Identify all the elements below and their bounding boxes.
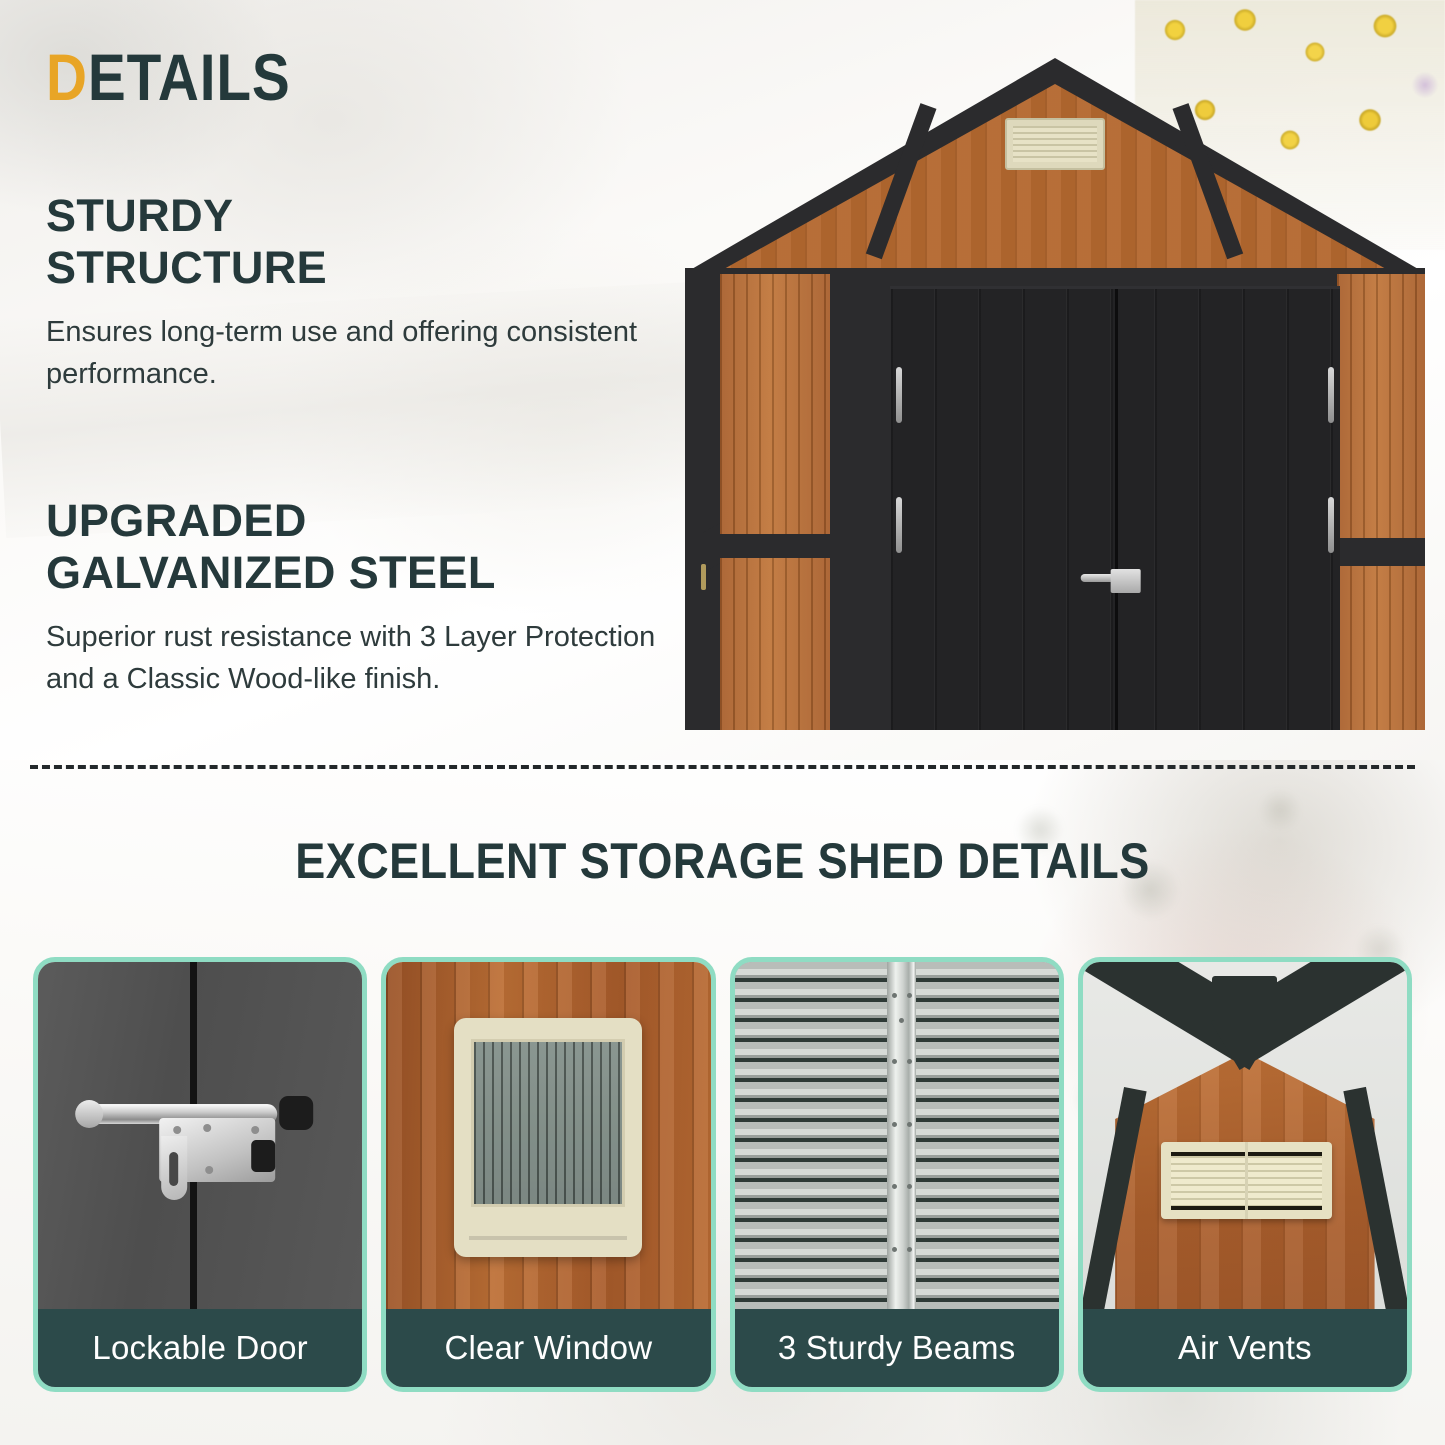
feature-heading: UPGRADED GALVANIZED STEEL <box>46 495 686 599</box>
section-heading: EXCELLENT STORAGE SHED DETAILS <box>72 832 1373 890</box>
beams-photo <box>735 962 1059 1309</box>
details-title-lead-letter: D <box>46 40 88 114</box>
beam-rivet <box>907 1059 912 1064</box>
shed-drip-edge <box>701 564 706 590</box>
beam-rivet <box>907 1122 912 1127</box>
door-latch-icon <box>1081 567 1147 593</box>
beam-rivet <box>907 1184 912 1189</box>
infographic-page: DETAILS STURDY STRUCTURE Ensures long-te… <box>0 0 1445 1445</box>
shed-wood-panel-left-upper <box>720 274 830 534</box>
latch-screw <box>251 1126 259 1134</box>
detail-card-clear-window[interactable]: Clear Window <box>381 957 715 1392</box>
latch-plate <box>1111 569 1141 593</box>
window-pane <box>471 1039 625 1207</box>
shed-double-doors <box>890 286 1340 730</box>
feature-heading: STURDY STRUCTURE <box>46 190 686 294</box>
door-hinge-left-bottom <box>896 497 902 553</box>
latch-screw <box>173 1126 181 1134</box>
feature-heading-line-1: STURDY <box>46 190 686 242</box>
feature-heading-line-1: UPGRADED <box>46 495 686 547</box>
beam-rivet <box>892 993 897 998</box>
feature-body-text: Ensures long-term use and offering consi… <box>46 312 686 394</box>
card-caption: 3 Sturdy Beams <box>735 1309 1059 1387</box>
door-hinge-right-top <box>1328 367 1334 423</box>
beam-rivet <box>892 1184 897 1189</box>
shed-body <box>685 268 1425 730</box>
feature-heading-line-2: GALVANIZED STEEL <box>46 547 686 599</box>
shed-wood-panel-right-upper <box>1337 274 1425 538</box>
detail-card-sturdy-beams[interactable]: 3 Sturdy Beams <box>730 957 1064 1392</box>
latch-screw <box>203 1124 211 1132</box>
shed-gable <box>685 58 1425 288</box>
beam-rivet <box>892 1247 897 1252</box>
window-frame <box>454 1018 642 1257</box>
latch-rod-cap <box>75 1100 103 1128</box>
detail-card-air-vents[interactable]: Air Vents <box>1078 957 1412 1392</box>
page-title: DETAILS <box>46 44 646 110</box>
door-hinge-left-top <box>896 367 902 423</box>
details-title-rest: ETAILS <box>88 40 291 114</box>
card-caption: Clear Window <box>386 1309 710 1387</box>
door-latch-photo <box>38 962 362 1309</box>
details-title: DETAILS <box>46 44 562 110</box>
window-sill <box>469 1236 627 1240</box>
latch-catch <box>251 1140 275 1172</box>
center-steel-beam <box>887 962 916 1309</box>
feature-heading-line-2: STRUCTURE <box>46 242 686 294</box>
storage-shed-hero-photo <box>655 0 1445 730</box>
feature-upgraded-galvanized-steel: UPGRADED GALVANIZED STEEL Superior rust … <box>46 495 686 700</box>
air-vent-photo <box>1083 962 1407 1309</box>
latch-screw <box>205 1166 213 1174</box>
beam-rivet <box>892 1059 897 1064</box>
section-divider <box>30 765 1415 769</box>
beam-rivet <box>892 1122 897 1127</box>
shed-wood-panel-left-lower <box>720 558 830 730</box>
latch-padlock-hole <box>169 1152 178 1186</box>
feature-body-text: Superior rust resistance with 3 Layer Pr… <box>46 617 686 699</box>
beam-rivet <box>907 993 912 998</box>
card-caption: Air Vents <box>1083 1309 1407 1387</box>
vent-center-divider <box>1245 1142 1248 1218</box>
detail-card-grid: Lockable Door Clear Window <box>33 957 1412 1392</box>
door-center-seam <box>1115 289 1118 730</box>
door-hinge-right-bottom <box>1328 497 1334 553</box>
beam-rivet <box>907 1247 912 1252</box>
card-caption: Lockable Door <box>38 1309 362 1387</box>
roof-peak-cap <box>1212 976 1277 1021</box>
window-photo <box>386 962 710 1309</box>
detail-card-lockable-door[interactable]: Lockable Door <box>33 957 367 1392</box>
gable-vent-icon <box>1005 118 1105 170</box>
slide-bolt-latch-icon <box>75 1084 315 1200</box>
beam-rivet <box>899 1018 904 1023</box>
shed-wood-panel-right-lower <box>1337 566 1425 730</box>
feature-sturdy-structure: STURDY STRUCTURE Ensures long-term use a… <box>46 190 686 395</box>
latch-knob <box>279 1096 313 1130</box>
